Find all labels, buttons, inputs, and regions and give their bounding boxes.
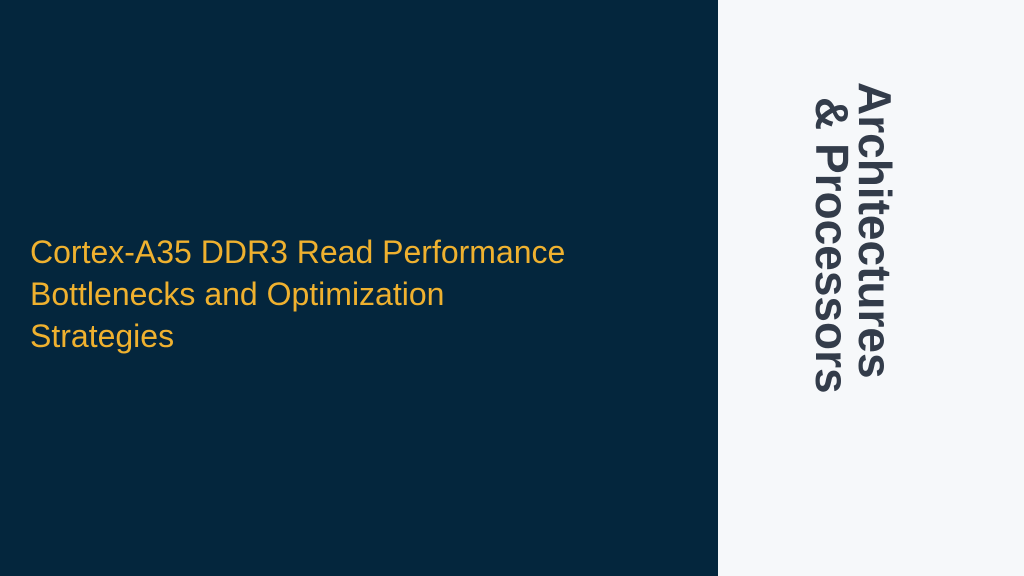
title-line-1: Cortex-A35 DDR3 Read Performance (30, 231, 702, 273)
title-line-3: Strategies (30, 315, 702, 357)
category-panel: Architectures & Processors (718, 0, 1024, 576)
category-label-line-1: Architectures (852, 82, 898, 379)
page-title: Cortex-A35 DDR3 Read Performance Bottlen… (30, 231, 702, 357)
slide-canvas: Cortex-A35 DDR3 Read Performance Bottlen… (0, 0, 1024, 576)
category-label-line-2: & Processors (809, 97, 855, 394)
title-panel: Cortex-A35 DDR3 Read Performance Bottlen… (0, 0, 718, 576)
title-line-2: Bottlenecks and Optimization (30, 273, 702, 315)
